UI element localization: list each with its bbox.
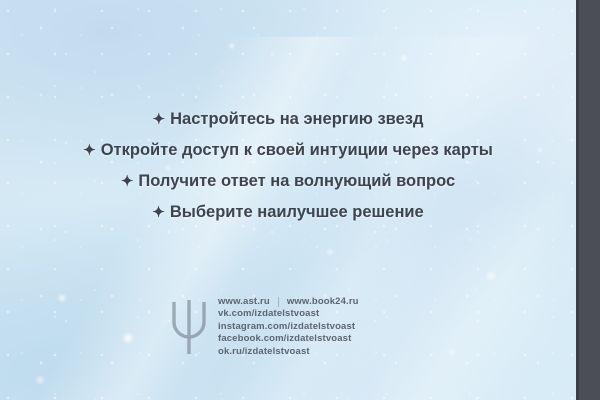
facebook-link[interactable]: facebook.com/izdatelstvoast bbox=[218, 333, 359, 345]
sparkle-bullet-icon: ✦ bbox=[153, 105, 166, 135]
right-edge-bar bbox=[576, 0, 600, 400]
sparkle-bullet-icon: ✦ bbox=[152, 198, 165, 228]
instagram-link[interactable]: instagram.com/izdatelstvoast bbox=[218, 321, 359, 333]
footer-separator bbox=[278, 297, 279, 307]
footer-links: www.ast.ru www.book24.ru vk.com/izdatels… bbox=[218, 296, 359, 358]
footer-sites-row: www.ast.ru www.book24.ru bbox=[218, 296, 359, 308]
site-primary-link[interactable]: www.ast.ru bbox=[218, 296, 270, 308]
benefits-list: ✦Настройтесь на энергию звезд ✦Откройте … bbox=[0, 104, 576, 228]
benefit-label: Выберите наилучшее решение bbox=[170, 203, 424, 221]
promo-poster: ✦Настройтесь на энергию звезд ✦Откройте … bbox=[0, 0, 600, 400]
benefit-item: ✦Выберите наилучшее решение bbox=[0, 197, 576, 228]
benefit-item: ✦Настройтесь на энергию звезд bbox=[0, 104, 576, 135]
benefit-label: Получите ответ на волнующий вопрос bbox=[138, 172, 455, 190]
vk-link[interactable]: vk.com/izdatelstvoast bbox=[218, 308, 359, 320]
footer-block: www.ast.ru www.book24.ru vk.com/izdatels… bbox=[168, 296, 359, 358]
ast-trident-logo-icon bbox=[168, 296, 210, 358]
sparkle-bullet-icon: ✦ bbox=[83, 136, 96, 166]
site-secondary-link[interactable]: www.book24.ru bbox=[287, 296, 359, 308]
benefit-label: Настройтесь на энергию звезд bbox=[170, 110, 423, 128]
sparkle-bullet-icon: ✦ bbox=[121, 167, 134, 197]
benefit-item: ✦Получите ответ на волнующий вопрос bbox=[0, 166, 576, 197]
ok-link[interactable]: ok.ru/izdatelstvoast bbox=[218, 346, 359, 358]
benefit-label: Откройте доступ к своей интуиции через к… bbox=[101, 141, 493, 159]
right-edge-bar-seam bbox=[576, 0, 579, 400]
benefit-item: ✦Откройте доступ к своей интуиции через … bbox=[0, 135, 576, 166]
